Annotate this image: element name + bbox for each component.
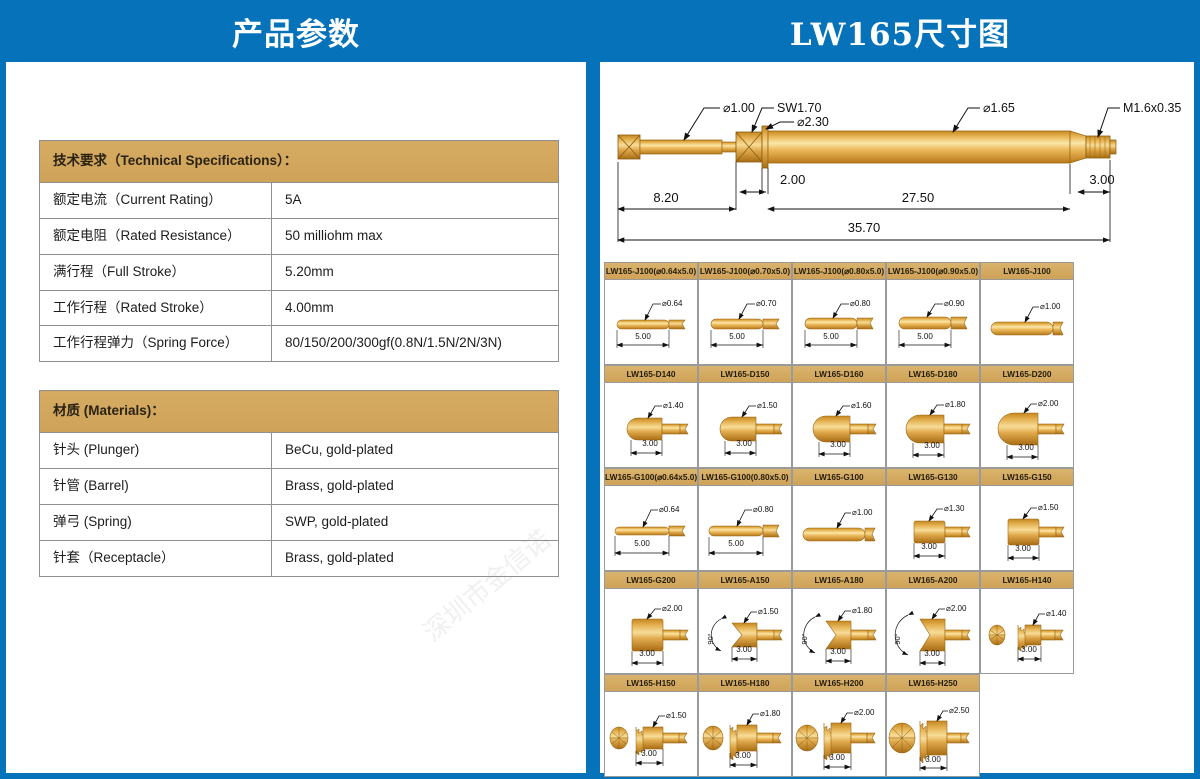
variant-length: 5.00 xyxy=(635,332,651,341)
variant-length: 5.00 xyxy=(823,332,839,341)
variant-length: 3.00 xyxy=(830,647,846,656)
tech-spec-title: 技术要求（Technical Specifications）： xyxy=(40,141,559,183)
variant-name: LW165-J100(⌀0.70x5.0) xyxy=(699,263,791,280)
dim-plunger-length: 8.20 xyxy=(653,190,678,205)
dim-hex-length: 2.00 xyxy=(780,172,805,187)
callout-flange-dia: ⌀2.30 xyxy=(797,115,829,129)
variant-cell[interactable]: LW165-H150 ⌀1.50 xyxy=(604,674,698,777)
variant-drawing: ⌀2.50 3.00 xyxy=(887,692,979,776)
technical-specifications-table: 技术要求（Technical Specifications）： 额定电流（Cur… xyxy=(39,140,559,362)
variant-name: LW165-A150 xyxy=(699,572,791,589)
variant-angle: 90° xyxy=(706,633,715,644)
variant-cell[interactable]: LW165-G100(⌀0.64x5.0) ⌀0.64 5.00 xyxy=(604,468,698,571)
variant-diameter: ⌀2.50 xyxy=(949,706,970,715)
variant-name: LW165-H250 xyxy=(887,675,979,692)
variant-cell[interactable]: LW165-D140 ⌀1.40 3.00 xyxy=(604,365,698,468)
variant-length: 3.00 xyxy=(1015,544,1031,553)
callout-barrel-dia: ⌀1.65 xyxy=(983,101,1015,115)
material-value: Brass, gold-plated xyxy=(272,540,559,576)
material-key: 针管 (Barrel) xyxy=(40,469,272,505)
spec-key: 满行程（Full Stroke） xyxy=(40,254,272,290)
spec-value: 4.00mm xyxy=(272,290,559,326)
variant-angle: 90° xyxy=(800,633,809,644)
variant-diameter: ⌀2.00 xyxy=(1038,399,1059,408)
variant-name: LW165-D140 xyxy=(605,366,697,383)
variant-length: 3.00 xyxy=(735,751,751,760)
dim-thread-length: 3.00 xyxy=(1089,172,1114,187)
callout-plunger-dia: ⌀1.00 xyxy=(723,101,755,115)
main-drawing-svg: ⌀1.00 SW1.70 ⌀2.30 ⌀1.65 M1.6x0.35 xyxy=(608,82,1186,260)
variant-length: 5.00 xyxy=(728,539,744,548)
variant-diameter: ⌀1.40 xyxy=(1046,609,1067,618)
spec-value: 5.20mm xyxy=(272,254,559,290)
variant-name: LW165-H150 xyxy=(605,675,697,692)
variant-length: 3.00 xyxy=(1021,645,1037,654)
variant-name: LW165-G100 xyxy=(793,469,885,486)
variant-diameter: ⌀0.64 xyxy=(659,505,680,514)
variant-cell[interactable]: LW165-J100(⌀0.70x5.0) ⌀0.70 5.00 xyxy=(698,262,792,365)
variant-drawing: ⌀1.50 3.00 xyxy=(981,486,1073,570)
variant-diameter: ⌀1.80 xyxy=(852,606,873,615)
variant-drawing: ⌀1.60 3.00 xyxy=(793,383,885,467)
variant-name: LW165-G200 xyxy=(605,572,697,589)
variant-diameter: ⌀1.50 xyxy=(666,711,687,720)
variant-angle: 90° xyxy=(893,633,902,644)
variant-diameter: ⌀1.00 xyxy=(852,508,873,517)
variant-diameter: ⌀2.00 xyxy=(662,604,683,613)
variant-name: LW165-G100(0.80x5.0) xyxy=(699,469,791,486)
variant-diameter: ⌀0.90 xyxy=(944,299,965,308)
variant-cell[interactable]: LW165-J100(⌀0.90x5.0) ⌀0.90 5.00 xyxy=(886,262,980,365)
variant-cell[interactable]: LW165-D200 ⌀2.00 3.00 xyxy=(980,365,1074,468)
spec-value: 5A xyxy=(272,182,559,218)
variant-grid-row: LW165-G200 ⌀2.00 3.00 xyxy=(604,571,1076,674)
callout-wrench-flat: SW1.70 xyxy=(777,101,822,115)
variant-drawing: ⌀2.00 3.00 xyxy=(793,692,885,776)
variant-diameter: ⌀2.00 xyxy=(946,604,967,613)
variant-diameter: ⌀0.80 xyxy=(850,299,871,308)
variant-cell[interactable]: LW165-D180 ⌀1.80 3.00 xyxy=(886,365,980,468)
variant-name: LW165-G100(⌀0.64x5.0) xyxy=(605,469,697,486)
variant-length: 3.00 xyxy=(736,439,752,448)
variant-name: LW165-H200 xyxy=(793,675,885,692)
callout-thread: M1.6x0.35 xyxy=(1123,101,1181,115)
variant-diameter: ⌀1.50 xyxy=(1038,503,1059,512)
variant-cell[interactable]: LW165-G100(0.80x5.0) ⌀0.80 5.00 xyxy=(698,468,792,571)
page-title-left: 产品参数 xyxy=(232,9,360,54)
variant-drawing: 90° ⌀1.80 3.00 xyxy=(793,589,885,673)
spec-key: 工作行程（Rated Stroke） xyxy=(40,290,272,326)
spec-key: 额定电阻（Rated Resistance） xyxy=(40,218,272,254)
variant-diameter: ⌀2.00 xyxy=(854,708,875,717)
variant-grid-row: LW165-J100(⌀0.64x5.0) ⌀0.64 5.00 xyxy=(604,262,1076,365)
dimension-drawing-panel: ⌀1.00 SW1.70 ⌀2.30 ⌀1.65 M1.6x0.35 xyxy=(600,62,1194,773)
variant-length: 5.00 xyxy=(917,332,933,341)
materials-title: 材质 (Materials)： xyxy=(40,391,559,433)
variant-diameter: ⌀1.80 xyxy=(945,400,966,409)
right-panel-header: LW165尺寸图 xyxy=(600,0,1200,62)
material-value: BeCu, gold-plated xyxy=(272,433,559,469)
variant-drawing: ⌀1.80 3.00 xyxy=(699,692,791,776)
spec-key: 工作行程弹力（Spring Force） xyxy=(40,326,272,362)
variant-diameter: ⌀1.60 xyxy=(851,401,872,410)
variant-grid-row: LW165-H150 ⌀1.50 xyxy=(604,674,1076,777)
variant-diameter: ⌀0.70 xyxy=(756,299,777,308)
variant-cell[interactable]: LW165-H180 ⌀1.80 xyxy=(698,674,792,777)
variant-drawing: ⌀1.00 xyxy=(793,486,885,570)
left-panel-header: 产品参数 xyxy=(0,0,592,62)
variant-length: 3.00 xyxy=(639,649,655,658)
variant-cell[interactable]: LW165-G150 ⌀1.50 3.00 xyxy=(980,468,1074,571)
variant-name: LW165-D160 xyxy=(793,366,885,383)
variant-length: 5.00 xyxy=(729,332,745,341)
variant-drawing: ⌀0.64 5.00 xyxy=(605,280,697,364)
material-key: 针头 (Plunger) xyxy=(40,433,272,469)
dim-barrel-length: 27.50 xyxy=(902,190,935,205)
variant-cell[interactable]: LW165-G100 ⌀1.00 xyxy=(792,468,886,571)
variant-length: 3.00 xyxy=(1018,443,1034,452)
variant-length: 3.00 xyxy=(924,441,940,450)
table-row: 满行程（Full Stroke） 5.20mm xyxy=(40,254,559,290)
variant-name: LW165-G150 xyxy=(981,469,1073,486)
variant-name: LW165-D200 xyxy=(981,366,1073,383)
variant-name: LW165-J100 xyxy=(981,263,1073,280)
variant-cell[interactable]: LW165-A150 90° ⌀1.50 3.00 xyxy=(698,571,792,674)
variant-drawing: ⌀2.00 3.00 xyxy=(981,383,1073,467)
variant-diameter: ⌀0.80 xyxy=(753,505,774,514)
variant-drawing: ⌀0.90 5.00 xyxy=(887,280,979,364)
variant-name: LW165-J100(⌀0.90x5.0) xyxy=(887,263,979,280)
variant-name: LW165-A200 xyxy=(887,572,979,589)
material-key: 针套（Receptacle） xyxy=(40,540,272,576)
variant-diameter: ⌀0.64 xyxy=(662,299,683,308)
variant-cell[interactable]: LW165-J100(⌀0.64x5.0) ⌀0.64 5.00 xyxy=(604,262,698,365)
variant-name: LW165-H140 xyxy=(981,572,1073,589)
table-row: 针管 (Barrel) Brass, gold-plated xyxy=(40,469,559,505)
page-root: 产品参数 LW165尺寸图 深圳市金信诺 技术要求（Technical Spec… xyxy=(0,0,1200,779)
variant-cell-empty xyxy=(980,674,1074,777)
variant-drawing: ⌀1.80 3.00 xyxy=(887,383,979,467)
product-parameters-panel: 深圳市金信诺 技术要求（Technical Specifications）： 额… xyxy=(6,62,586,773)
variant-cell[interactable]: LW165-H140 ⌀1.40 xyxy=(980,571,1074,674)
materials-table: 材质 (Materials)： 针头 (Plunger) BeCu, gold-… xyxy=(39,390,559,576)
variant-diameter: ⌀1.80 xyxy=(760,709,781,718)
variant-name: LW165-H180 xyxy=(699,675,791,692)
page-title-right: LW165尺寸图 xyxy=(790,9,1010,54)
variant-cell[interactable]: LW165-J100(⌀0.80x5.0) ⌀0.80 5.00 xyxy=(792,262,886,365)
variant-name: LW165-J100(⌀0.64x5.0) xyxy=(605,263,697,280)
variant-drawing: ⌀0.64 5.00 xyxy=(605,486,697,570)
variant-drawing: ⌀0.70 5.00 xyxy=(699,280,791,364)
variant-length: 3.00 xyxy=(830,440,846,449)
table-row: 工作行程弹力（Spring Force） 80/150/200/300gf(0.… xyxy=(40,326,559,362)
variant-drawing: ⌀1.40 3.00 xyxy=(605,383,697,467)
variant-cell[interactable]: LW165-A200 90° ⌀2.00 3.00 xyxy=(886,571,980,674)
variant-length: 3.00 xyxy=(829,753,845,762)
variant-drawing: ⌀1.40 3.00 xyxy=(981,589,1073,673)
variant-length: 3.00 xyxy=(736,645,752,654)
variant-name: LW165-J100(⌀0.80x5.0) xyxy=(793,263,885,280)
variant-diameter: ⌀1.30 xyxy=(944,504,965,513)
variant-cell[interactable]: LW165-G200 ⌀2.00 3.00 xyxy=(604,571,698,674)
main-pin-drawing: ⌀1.00 SW1.70 ⌀2.30 ⌀1.65 M1.6x0.35 xyxy=(608,82,1186,260)
table-row: 额定电阻（Rated Resistance） 50 milliohm max xyxy=(40,218,559,254)
table-row: 额定电流（Current Rating） 5A xyxy=(40,182,559,218)
variant-length: 3.00 xyxy=(641,749,657,758)
table-header-row: 材质 (Materials)： xyxy=(40,391,559,433)
variant-length: 3.00 xyxy=(921,542,937,551)
spec-tables-wrapper: 技术要求（Technical Specifications）： 额定电流（Cur… xyxy=(39,140,559,605)
variant-diameter: ⌀1.40 xyxy=(663,401,684,410)
variant-drawing: ⌀0.80 5.00 xyxy=(699,486,791,570)
variant-cell[interactable]: LW165-D150 ⌀1.50 3.00 xyxy=(698,365,792,468)
spec-value: 50 milliohm max xyxy=(272,218,559,254)
variant-grid-row: LW165-D140 ⌀1.40 3.00 xyxy=(604,365,1076,468)
variant-diameter: ⌀1.50 xyxy=(757,401,778,410)
material-key: 弹弓 (Spring) xyxy=(40,504,272,540)
variant-length: 3.00 xyxy=(925,755,941,764)
variant-diameter: ⌀1.50 xyxy=(758,607,779,616)
variant-cell[interactable]: LW165-D160 ⌀1.60 3.00 xyxy=(792,365,886,468)
material-value: SWP, gold-plated xyxy=(272,504,559,540)
variant-drawing: ⌀1.50 3.00 xyxy=(605,692,697,776)
variant-grid: LW165-J100(⌀0.64x5.0) ⌀0.64 5.00 xyxy=(604,262,1076,777)
spec-value: 80/150/200/300gf(0.8N/1.5N/2N/3N) xyxy=(272,326,559,362)
table-row: 工作行程（Rated Stroke） 4.00mm xyxy=(40,290,559,326)
variant-length: 3.00 xyxy=(642,439,658,448)
variant-cell[interactable]: LW165-H250 ⌀2.50 xyxy=(886,674,980,777)
variant-length: 5.00 xyxy=(634,539,650,548)
variant-name: LW165-A180 xyxy=(793,572,885,589)
table-row: 弹弓 (Spring) SWP, gold-plated xyxy=(40,504,559,540)
variant-drawing: ⌀1.30 3.00 xyxy=(887,486,979,570)
variant-drawing: 90° ⌀1.50 3.00 xyxy=(699,589,791,673)
table-row: 针套（Receptacle） Brass, gold-plated xyxy=(40,540,559,576)
variant-grid-row: LW165-G100(⌀0.64x5.0) ⌀0.64 5.00 xyxy=(604,468,1076,571)
variant-name: LW165-G130 xyxy=(887,469,979,486)
variant-drawing: ⌀0.80 5.00 xyxy=(793,280,885,364)
variant-cell[interactable]: LW165-J100 ⌀1.00 xyxy=(980,262,1074,365)
variant-drawing: ⌀1.00 xyxy=(981,280,1073,364)
spec-key: 额定电流（Current Rating） xyxy=(40,182,272,218)
material-value: Brass, gold-plated xyxy=(272,469,559,505)
variant-cell[interactable]: LW165-H200 ⌀2.00 xyxy=(792,674,886,777)
variant-drawing: ⌀2.00 3.00 xyxy=(605,589,697,673)
variant-length: 3.00 xyxy=(924,649,940,658)
variant-name: LW165-D150 xyxy=(699,366,791,383)
variant-cell[interactable]: LW165-G130 ⌀1.30 3.00 xyxy=(886,468,980,571)
variant-diameter: ⌀1.00 xyxy=(1040,302,1061,311)
table-row: 针头 (Plunger) BeCu, gold-plated xyxy=(40,433,559,469)
table-header-row: 技术要求（Technical Specifications）： xyxy=(40,141,559,183)
variant-cell[interactable]: LW165-A180 90° ⌀1.80 3.00 xyxy=(792,571,886,674)
variant-drawing: 90° ⌀2.00 3.00 xyxy=(887,589,979,673)
variant-drawing: ⌀1.50 3.00 xyxy=(699,383,791,467)
dim-overall-length: 35.70 xyxy=(848,220,881,235)
variant-name: LW165-D180 xyxy=(887,366,979,383)
